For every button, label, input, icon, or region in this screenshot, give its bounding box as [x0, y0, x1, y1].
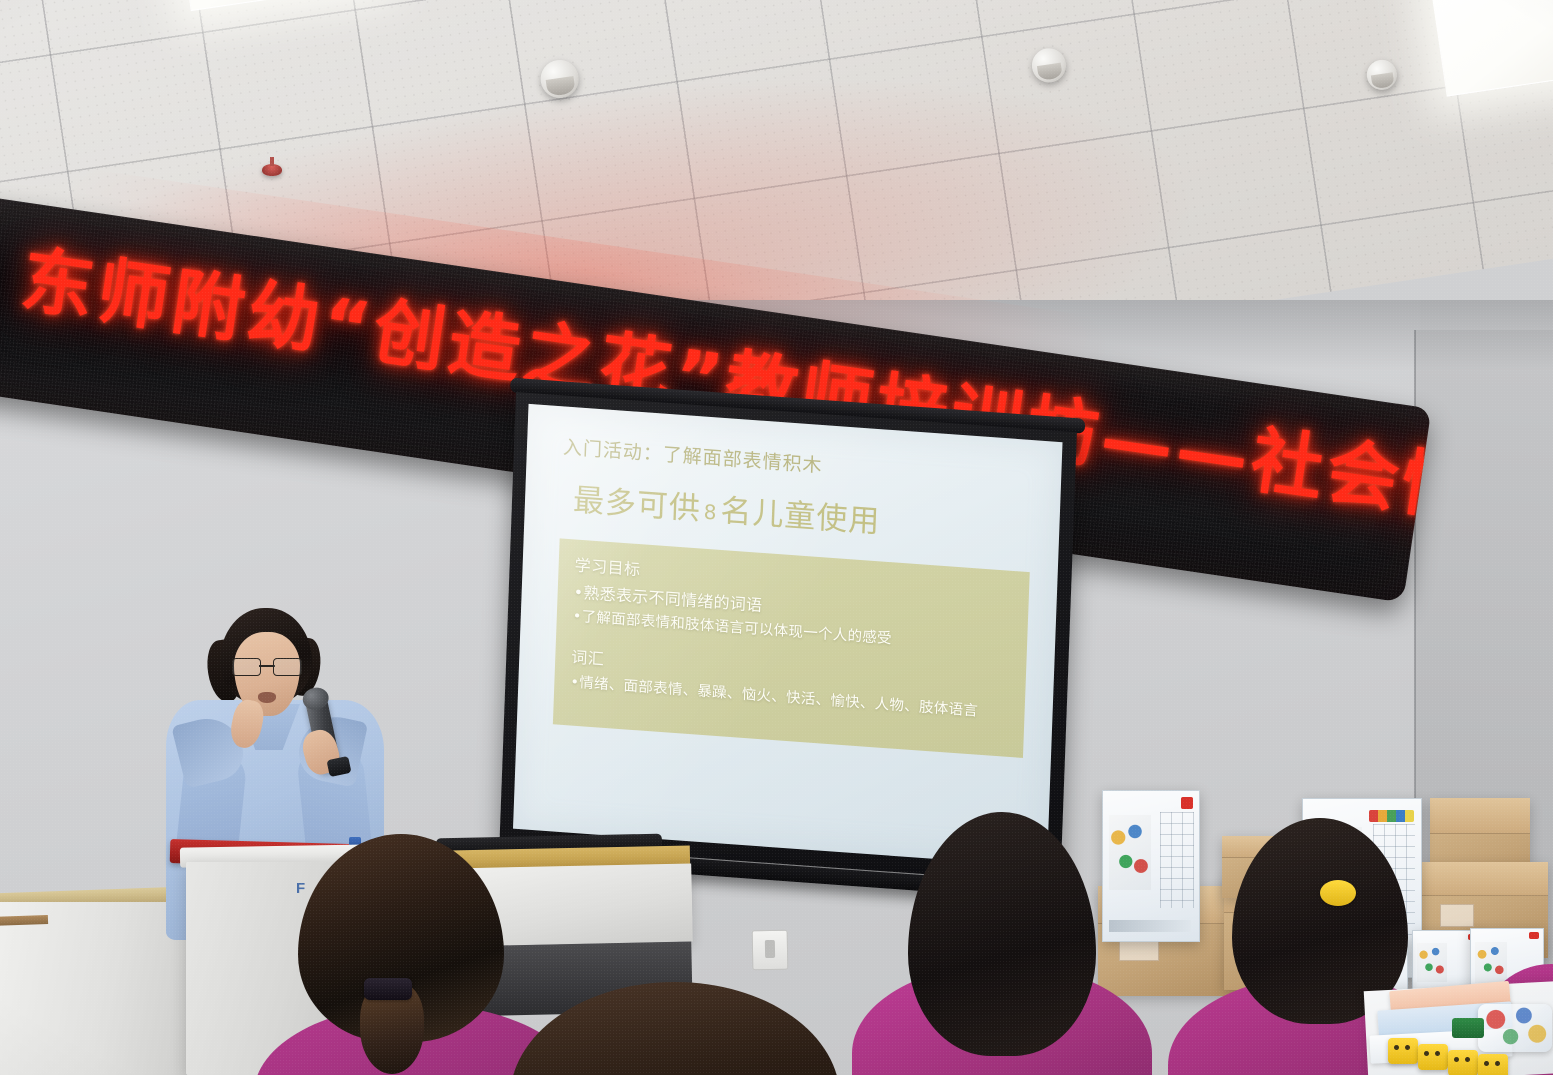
slide-content-box: 学习目标 •熟悉表示不同情绪的词语 •了解面部表情和肢体语言可以体现一个人的感受…: [553, 538, 1030, 758]
audience-front-center-hair: [510, 982, 840, 1075]
face-block-3: [1448, 1050, 1478, 1075]
colored-cellophane-pack: [1478, 1004, 1552, 1052]
yellow-hair-tie: [1320, 880, 1356, 906]
sprinkler-head: [262, 164, 282, 176]
slide-title-number: 8: [700, 499, 721, 524]
slide-title-suffix: 名儿童使用: [720, 493, 881, 540]
audience-front-center: [510, 982, 840, 1075]
face-block-2: [1418, 1044, 1448, 1070]
projection-screen: 入门活动：了解面部表情积木 最多可供8名儿童使用 学习目标 •熟悉表示不同情绪的…: [499, 392, 1076, 884]
slide-title-prefix: 最多可供: [572, 482, 701, 527]
green-block: [1452, 1018, 1484, 1038]
glasses-icon: [232, 658, 302, 675]
wall-outlet: [752, 930, 789, 971]
black-hair-scrunchie: [364, 978, 412, 1000]
presenter-mouth: [258, 692, 276, 703]
audience-center-hair: [908, 812, 1096, 1056]
recessed-light-panel-2: [1430, 0, 1553, 97]
audience-front-left: [286, 834, 548, 1075]
face-block-4: [1478, 1054, 1508, 1075]
audience-center: [866, 812, 1136, 1075]
screen-frame: 入门活动：了解面部表情积木 最多可供8名儿童使用 学习目标 •熟悉表示不同情绪的…: [499, 392, 1076, 884]
face-block-1: [1388, 1038, 1418, 1064]
classroom-photo: 东师附幼“创造之花”教师培训坊——社会情感学习培训 入门活动：了解面部表情积木 …: [0, 0, 1553, 1075]
presentation-slide: 入门活动：了解面部表情积木 最多可供8名儿童使用 学习目标 •熟悉表示不同情绪的…: [513, 404, 1063, 867]
